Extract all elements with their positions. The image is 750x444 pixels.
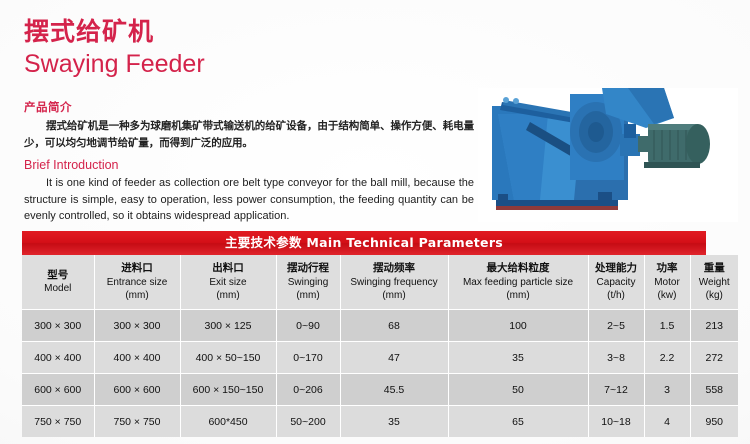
column-header-cn: 进料口 <box>95 261 180 275</box>
cell-swinging: 0~170 <box>276 342 340 374</box>
cell-motor: 2.2 <box>644 342 690 374</box>
column-header-entrance-size: 进料口 Entrance size (mm) <box>94 255 180 310</box>
column-header-en: Weight <box>691 276 739 290</box>
cell-capacity: 7~12 <box>588 374 644 406</box>
cell-capacity: 3~8 <box>588 342 644 374</box>
column-header-unit: (mm) <box>341 289 448 303</box>
column-header-swinging-frequency: 摆动频率 Swinging frequency (mm) <box>340 255 448 310</box>
cell-exit-size: 400 × 50~150 <box>180 342 276 374</box>
cell-model: 600 × 600 <box>22 374 94 406</box>
cell-swinging-frequency: 35 <box>340 406 448 438</box>
column-header-weight: 重量 Weight (kg) <box>690 255 738 310</box>
column-header-en: Swinging frequency <box>341 276 448 290</box>
cell-entrance-size: 400 × 400 <box>94 342 180 374</box>
column-header-unit: (mm) <box>95 289 180 303</box>
column-header-cn: 重量 <box>691 261 739 275</box>
page-title: 摆式给矿机 Swaying Feeder <box>24 18 205 79</box>
cell-weight: 272 <box>690 342 738 374</box>
cell-entrance-size: 600 × 600 <box>94 374 180 406</box>
table-row: 400 × 400 400 × 400 400 × 50~150 0~170 4… <box>22 342 738 374</box>
column-header-max-feeding-particle-size: 最大给料粒度 Max feeding particle size (mm) <box>448 255 588 310</box>
cell-swinging-frequency: 45.5 <box>340 374 448 406</box>
table-row: 300 × 300 300 × 300 300 × 125 0~90 68 10… <box>22 310 738 342</box>
column-header-unit: (kg) <box>691 289 739 303</box>
spec-table-container: 主要技术参数 Main Technical Parameters 型号 Mode… <box>22 231 706 437</box>
cell-motor: 3 <box>644 374 690 406</box>
column-header-cn: 出料口 <box>181 261 276 275</box>
intro-heading-chinese: 产品简介 <box>24 99 474 115</box>
column-header-cn: 摆动频率 <box>341 261 448 275</box>
cell-max-feeding-particle-size: 100 <box>448 310 588 342</box>
table-banner: 主要技术参数 Main Technical Parameters <box>22 231 706 255</box>
cell-model: 750 × 750 <box>22 406 94 438</box>
column-header-cn: 型号 <box>22 268 94 282</box>
cell-swinging: 0~90 <box>276 310 340 342</box>
column-header-en: Max feeding particle size <box>449 276 588 290</box>
cell-max-feeding-particle-size: 65 <box>448 406 588 438</box>
cell-exit-size: 600*450 <box>180 406 276 438</box>
column-header-exit-size: 出料口 Exit size (mm) <box>180 255 276 310</box>
table-row: 750 × 750 750 × 750 600*450 50~200 35 65… <box>22 406 738 438</box>
column-header-cn: 摆动行程 <box>277 261 340 275</box>
page-title-chinese: 摆式给矿机 <box>24 18 205 47</box>
table-row: 600 × 600 600 × 600 600 × 150~150 0~206 … <box>22 374 738 406</box>
column-header-unit: (mm) <box>449 289 588 303</box>
column-header-model: 型号 Model <box>22 255 94 310</box>
cell-max-feeding-particle-size: 50 <box>448 374 588 406</box>
column-header-en: Entrance size <box>95 276 180 290</box>
cell-weight: 950 <box>690 406 738 438</box>
column-header-unit: (mm) <box>181 289 276 303</box>
column-header-cn: 功率 <box>645 261 690 275</box>
intro-heading-english: Brief Introduction <box>24 158 474 172</box>
cell-swinging: 50~200 <box>276 406 340 438</box>
column-header-en: Model <box>22 282 94 296</box>
column-header-unit: (t/h) <box>589 289 644 303</box>
cell-swinging: 0~206 <box>276 374 340 406</box>
column-header-motor: 功率 Motor (kw) <box>644 255 690 310</box>
cell-model: 400 × 400 <box>22 342 94 374</box>
spec-table: 型号 Model 进料口 Entrance size (mm) 出料口 Exit… <box>22 255 738 437</box>
cell-model: 300 × 300 <box>22 310 94 342</box>
cell-entrance-size: 300 × 300 <box>94 310 180 342</box>
cell-swinging-frequency: 47 <box>340 342 448 374</box>
cell-exit-size: 600 × 150~150 <box>180 374 276 406</box>
column-header-unit: (mm) <box>277 289 340 303</box>
column-header-en: Motor <box>645 276 690 290</box>
cell-exit-size: 300 × 125 <box>180 310 276 342</box>
column-header-en: Capacity <box>589 276 644 290</box>
cell-motor: 4 <box>644 406 690 438</box>
column-header-unit: (kw) <box>645 289 690 303</box>
column-header-capacity: 处理能力 Capacity (t/h) <box>588 255 644 310</box>
cell-capacity: 2~5 <box>588 310 644 342</box>
product-spec-page: 摆式给矿机 Swaying Feeder 产品简介 摆式给矿机是一种多为球磨机集… <box>0 0 750 444</box>
table-header-row: 型号 Model 进料口 Entrance size (mm) 出料口 Exit… <box>22 255 738 310</box>
intro-body-chinese: 摆式给矿机是一种多为球磨机集矿带式输送机的给矿设备，由于结构简单、操作方便、耗电… <box>24 118 474 152</box>
cell-max-feeding-particle-size: 35 <box>448 342 588 374</box>
cell-entrance-size: 750 × 750 <box>94 406 180 438</box>
column-header-en: Swinging <box>277 276 340 290</box>
intro-section-english: Brief Introduction It is one kind of fee… <box>24 158 474 225</box>
column-header-swinging: 摆动行程 Swinging (mm) <box>276 255 340 310</box>
column-header-en: Exit size <box>181 276 276 290</box>
cell-weight: 558 <box>690 374 738 406</box>
cell-swinging-frequency: 68 <box>340 310 448 342</box>
column-header-cn: 处理能力 <box>589 261 644 275</box>
page-title-english: Swaying Feeder <box>24 49 205 79</box>
cell-motor: 1.5 <box>644 310 690 342</box>
column-header-cn: 最大给料粒度 <box>449 261 588 275</box>
cell-capacity: 10~18 <box>588 406 644 438</box>
cell-weight: 213 <box>690 310 738 342</box>
intro-section-chinese: 产品简介 摆式给矿机是一种多为球磨机集矿带式输送机的给矿设备，由于结构简单、操作… <box>24 99 474 152</box>
product-photo <box>478 88 738 222</box>
intro-body-english: It is one kind of feeder as collection o… <box>24 175 474 225</box>
